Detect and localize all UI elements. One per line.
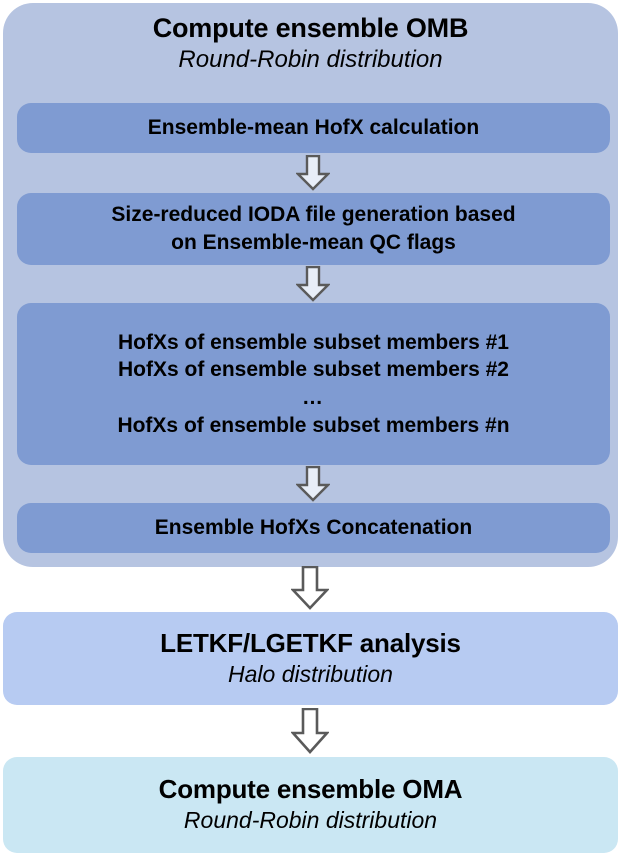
down-block-arrow-glyph [291, 566, 329, 610]
letkf-stage-title: LETKF/LGETKF analysis [160, 629, 461, 659]
oma-stage-title: Compute ensemble OMA [159, 775, 463, 805]
step-line: HofXs of ensemble subset members #1 [118, 329, 509, 357]
letkf-stage-subtitle: Halo distribution [228, 661, 393, 689]
down-block-arrow-glyph [296, 466, 330, 502]
stage-box-letkf-analysis[interactable]: LETKF/LGETKF analysis Halo distribution [3, 612, 618, 705]
down-block-arrow-icon [296, 266, 330, 302]
step-box-ensemble-subset-hofxs[interactable]: HofXs of ensemble subset members #1 HofX… [17, 303, 610, 465]
omb-stage-subtitle: Round-Robin distribution [3, 46, 618, 75]
down-block-arrow-glyph [291, 708, 329, 754]
down-block-arrow-icon [296, 466, 330, 502]
omb-stage-title: Compute ensemble OMB [3, 13, 618, 44]
down-block-arrow-icon [291, 708, 329, 754]
step-box-ensemble-hofxs-concatenation[interactable]: Ensemble HofXs Concatenation [17, 503, 610, 553]
step-box-ensemble-mean-hofx[interactable]: Ensemble-mean HofX calculation [17, 103, 610, 153]
stage-box-compute-ensemble-oma[interactable]: Compute ensemble OMA Round-Robin distrib… [3, 757, 618, 853]
step-line: Ensemble HofXs Concatenation [155, 514, 472, 542]
step-line: Ensemble-mean HofX calculation [148, 114, 479, 142]
down-block-arrow-icon [291, 566, 329, 610]
step-line: HofXs of ensemble subset members #n [117, 412, 509, 440]
step-line: on Ensemble-mean QC flags [171, 229, 456, 257]
oma-stage-subtitle: Round-Robin distribution [184, 807, 437, 835]
omb-stage-heading: Compute ensemble OMB Round-Robin distrib… [3, 13, 618, 75]
workflow-diagram: Compute ensemble OMB Round-Robin distrib… [0, 0, 621, 850]
step-line: Size-reduced IODA file generation based [111, 201, 515, 229]
step-line-ellipsis: … [302, 384, 325, 412]
step-box-size-reduced-ioda[interactable]: Size-reduced IODA file generation based … [17, 193, 610, 265]
down-block-arrow-glyph [296, 155, 330, 191]
down-block-arrow-glyph [296, 266, 330, 302]
step-line: HofXs of ensemble subset members #2 [118, 356, 509, 384]
omb-stage-container: Compute ensemble OMB Round-Robin distrib… [3, 3, 618, 567]
down-block-arrow-icon [296, 155, 330, 191]
